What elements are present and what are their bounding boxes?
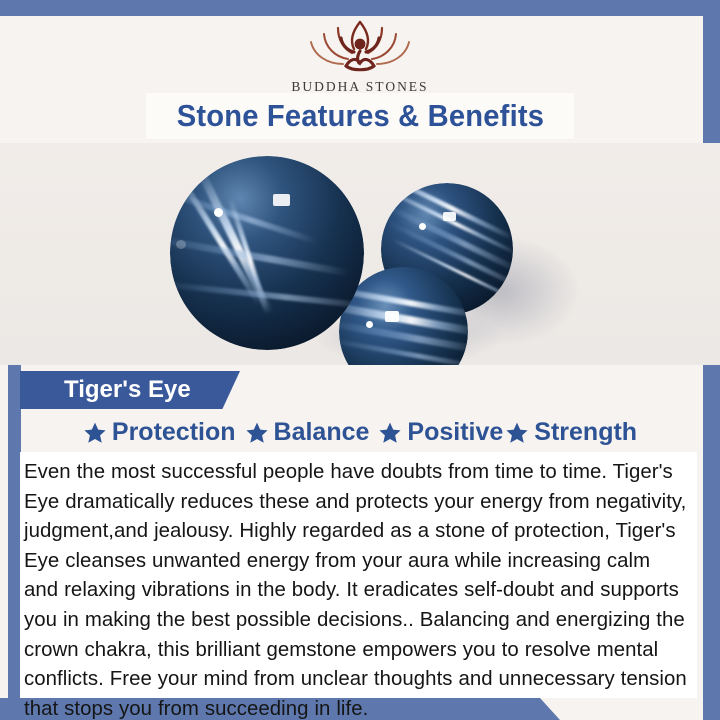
frame-top-bar [0, 0, 720, 16]
benefit-item: Balance [245, 418, 370, 447]
star-icon [245, 421, 269, 445]
stone-features-poster: BUDDHA STONES Stone Features & Benefits [0, 0, 720, 720]
brand-logo: BUDDHA STONES [0, 18, 720, 95]
stone-name-banner: Tiger's Eye [20, 371, 240, 409]
benefit-item: Strength [505, 418, 637, 447]
star-icon [378, 421, 402, 445]
benefit-item: Positive [378, 418, 503, 447]
stone-name-label: Tiger's Eye [64, 376, 191, 404]
star-icon [505, 421, 529, 445]
benefit-label: Strength [534, 418, 637, 447]
page-title: Stone Features & Benefits [176, 98, 543, 134]
lotus-meditation-icon [294, 18, 426, 76]
gemstone-photo [0, 143, 720, 365]
benefit-item: Protection [83, 418, 236, 447]
benefits-row: Protection Balance Positive Strength [0, 418, 720, 447]
description-panel: Even the most successful people have dou… [20, 452, 697, 698]
benefit-label: Balance [274, 418, 370, 447]
page-title-box: Stone Features & Benefits [146, 93, 574, 139]
star-icon [83, 421, 107, 445]
benefit-label: Positive [407, 418, 503, 447]
benefit-label: Protection [112, 418, 236, 447]
gemstone-sphere-large [170, 156, 364, 350]
description-text: Even the most successful people have dou… [24, 458, 689, 720]
